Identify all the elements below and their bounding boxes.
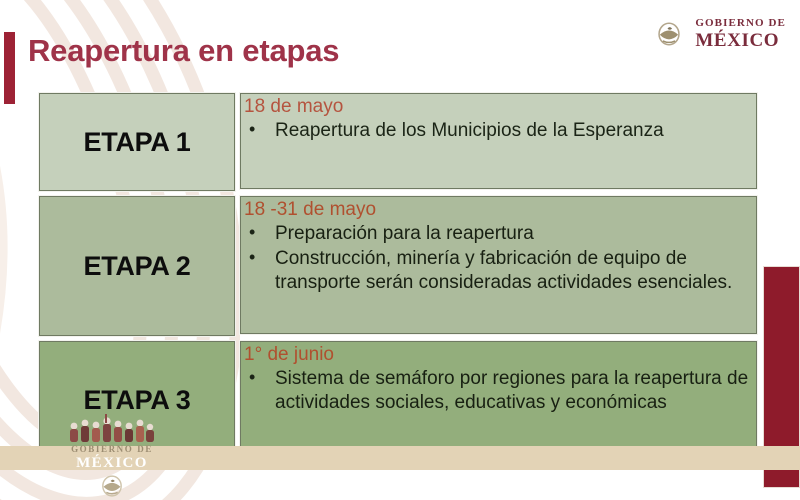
footer-brand-line1: GOBIERNO DE <box>52 445 172 454</box>
list-item: Preparación para la reapertura <box>244 222 751 246</box>
stage-date: 18 de mayo <box>244 96 751 118</box>
list-item: Sistema de semáforo por regiones para la… <box>244 367 751 416</box>
stage-bullet-list: Preparación para la reapertura Construcc… <box>244 222 751 296</box>
stage-content-cell: 1° de junio Sistema de semáforo por regi… <box>239 340 758 458</box>
table-row: ETAPA 3 1° de junio Sistema de semáforo … <box>38 340 758 460</box>
stage-date: 18 -31 de mayo <box>244 199 751 221</box>
stage-bullet-list: Reapertura de los Municipios de la Esper… <box>244 119 751 143</box>
list-item: Construcción, minería y fabricación de e… <box>244 247 751 296</box>
stage-bullet-list: Sistema de semáforo por regiones para la… <box>244 367 751 416</box>
mexican-eagle-seal-icon <box>652 21 686 47</box>
footer-brand-lockup: GOBIERNO DE MÉXICO <box>52 445 172 498</box>
page-title: Reapertura en etapas <box>28 33 339 69</box>
footer-brand-line2: MÉXICO <box>52 456 172 471</box>
stage-content-cell: 18 de mayo Reapertura de los Municipios … <box>239 92 758 190</box>
list-item: Reapertura de los Municipios de la Esper… <box>244 119 751 143</box>
brand-text: GOBIERNO DE MÉXICO <box>695 18 786 50</box>
crowd-of-people-icon <box>52 414 172 442</box>
table-row: ETAPA 2 18 -31 de mayo Preparación para … <box>38 195 758 337</box>
slide-canvas: Reapertura en etapas GOBIERNO DE MÉXICO … <box>0 0 800 500</box>
stage-label-cell: ETAPA 1 <box>38 92 236 192</box>
brand-line1: GOBIERNO DE <box>695 18 786 29</box>
stage-label-cell: ETAPA 2 <box>38 195 236 337</box>
stage-content-cell: 18 -31 de mayo Preparación para la reape… <box>239 195 758 335</box>
stage-date: 1° de junio <box>244 344 751 366</box>
stages-table: ETAPA 1 18 de mayo Reapertura de los Mun… <box>38 92 758 460</box>
brand-lockup: GOBIERNO DE MÉXICO <box>652 18 786 50</box>
title-accent-bar <box>4 32 15 104</box>
brand-line2: MÉXICO <box>695 31 786 50</box>
stage-label-cell: ETAPA 3 <box>38 340 236 460</box>
table-row: ETAPA 1 18 de mayo Reapertura de los Mun… <box>38 92 758 192</box>
mexican-eagle-seal-icon <box>95 474 129 498</box>
